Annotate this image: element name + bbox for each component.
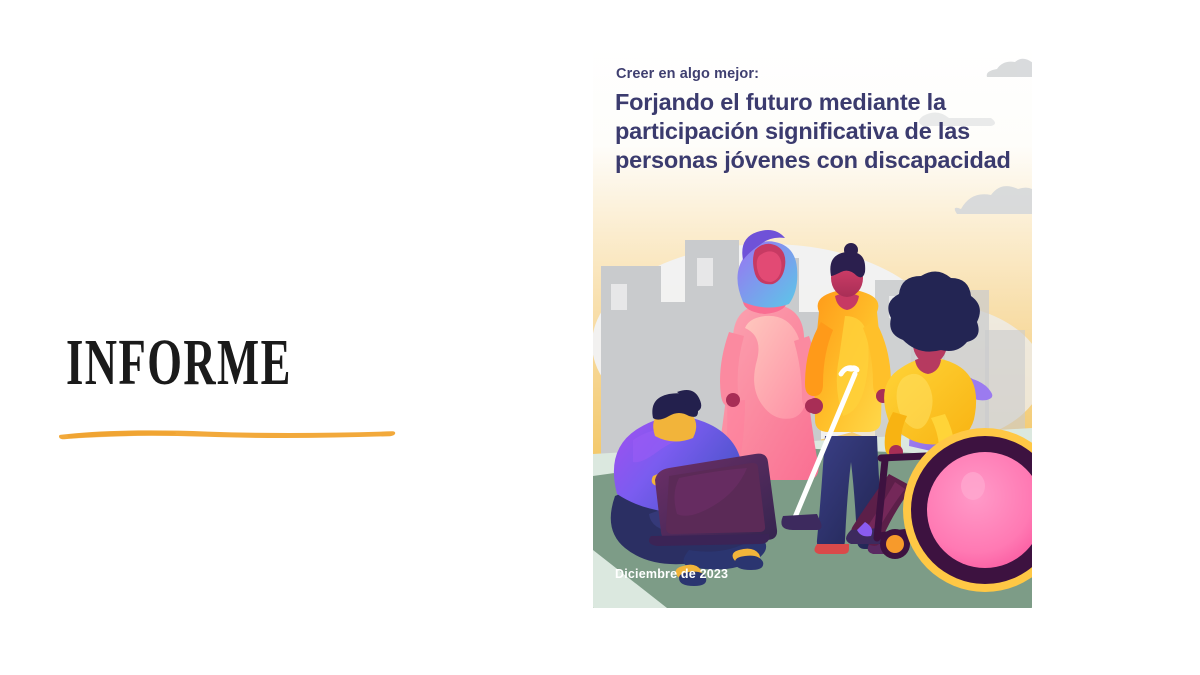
- slide-left-panel: INFORME: [0, 0, 560, 675]
- cover-illustration: [593, 44, 1032, 608]
- page-title: INFORME: [66, 330, 292, 396]
- report-cover-image[interactable]: Creer en algo mejor: Forjando el futuro …: [593, 44, 1032, 608]
- heading-underline-brushstroke: [58, 420, 396, 446]
